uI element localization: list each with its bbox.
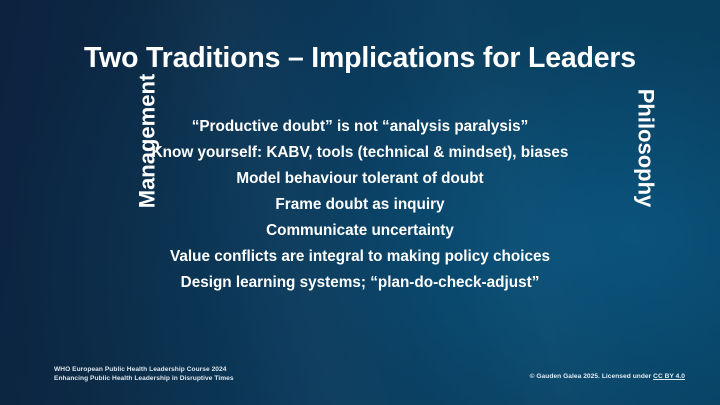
footer-copyright: © Gauden Galea 2025. Licensed under CC B… bbox=[530, 373, 685, 380]
license-link[interactable]: CC BY 4.0 bbox=[653, 373, 685, 380]
side-label-management-wrap: Management bbox=[75, 128, 220, 150]
presentation-slide: Two Traditions – Implications for Leader… bbox=[0, 0, 720, 405]
body-line: Communicate uncertainty bbox=[105, 218, 615, 244]
copyright-text: © Gauden Galea 2025. Licensed under bbox=[530, 373, 654, 380]
body-line: Model behaviour tolerant of doubt bbox=[105, 166, 615, 192]
slide-title: Two Traditions – Implications for Leader… bbox=[0, 42, 720, 75]
footer-course-title: WHO European Public Health Leadership Co… bbox=[54, 365, 234, 375]
body-line: Design learning systems; “plan-do-check-… bbox=[105, 270, 615, 296]
body-line: Value conflicts are integral to making p… bbox=[105, 244, 615, 270]
footer-course-info: WHO European Public Health Leadership Co… bbox=[54, 365, 234, 384]
body-line: Frame doubt as inquiry bbox=[105, 192, 615, 218]
footer-course-subtitle: Enhancing Public Health Leadership in Di… bbox=[54, 374, 234, 384]
side-label-management: Management bbox=[135, 69, 161, 214]
side-label-philosophy-wrap: Philosophy bbox=[573, 135, 718, 157]
side-label-philosophy: Philosophy bbox=[633, 76, 659, 221]
